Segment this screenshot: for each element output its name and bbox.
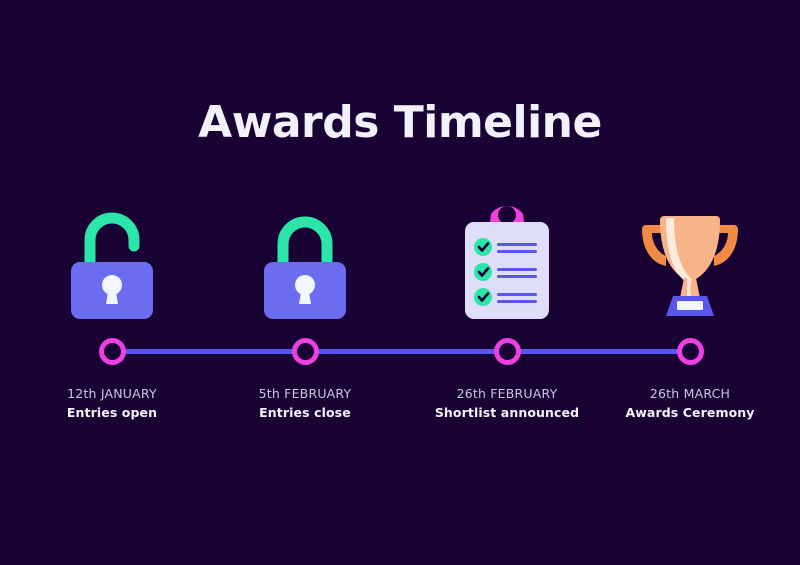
timeline-infographic: Awards Timeline — [0, 0, 800, 565]
milestone-event: Awards Ceremony — [575, 403, 800, 422]
trophy-icon — [630, 200, 750, 320]
timeline-node-entries-open[interactable] — [99, 338, 126, 365]
closed-padlock-icon — [245, 200, 365, 320]
milestone-label-awards-ceremony: 26th MARCH Awards Ceremony — [575, 385, 800, 423]
page-title: Awards Timeline — [0, 99, 800, 147]
open-padlock-icon — [52, 200, 172, 320]
clipboard-checklist-icon — [447, 200, 567, 320]
milestone-date: 5th FEBRUARY — [190, 385, 420, 403]
milestone-label-entries-close: 5th FEBRUARY Entries close — [190, 385, 420, 423]
timeline-axis — [112, 349, 690, 354]
timeline-node-awards-ceremony[interactable] — [677, 338, 704, 365]
milestone-event: Entries close — [190, 403, 420, 422]
timeline-node-shortlist-announced[interactable] — [494, 338, 521, 365]
milestone-date: 26th MARCH — [575, 385, 800, 403]
timeline-node-entries-close[interactable] — [292, 338, 319, 365]
